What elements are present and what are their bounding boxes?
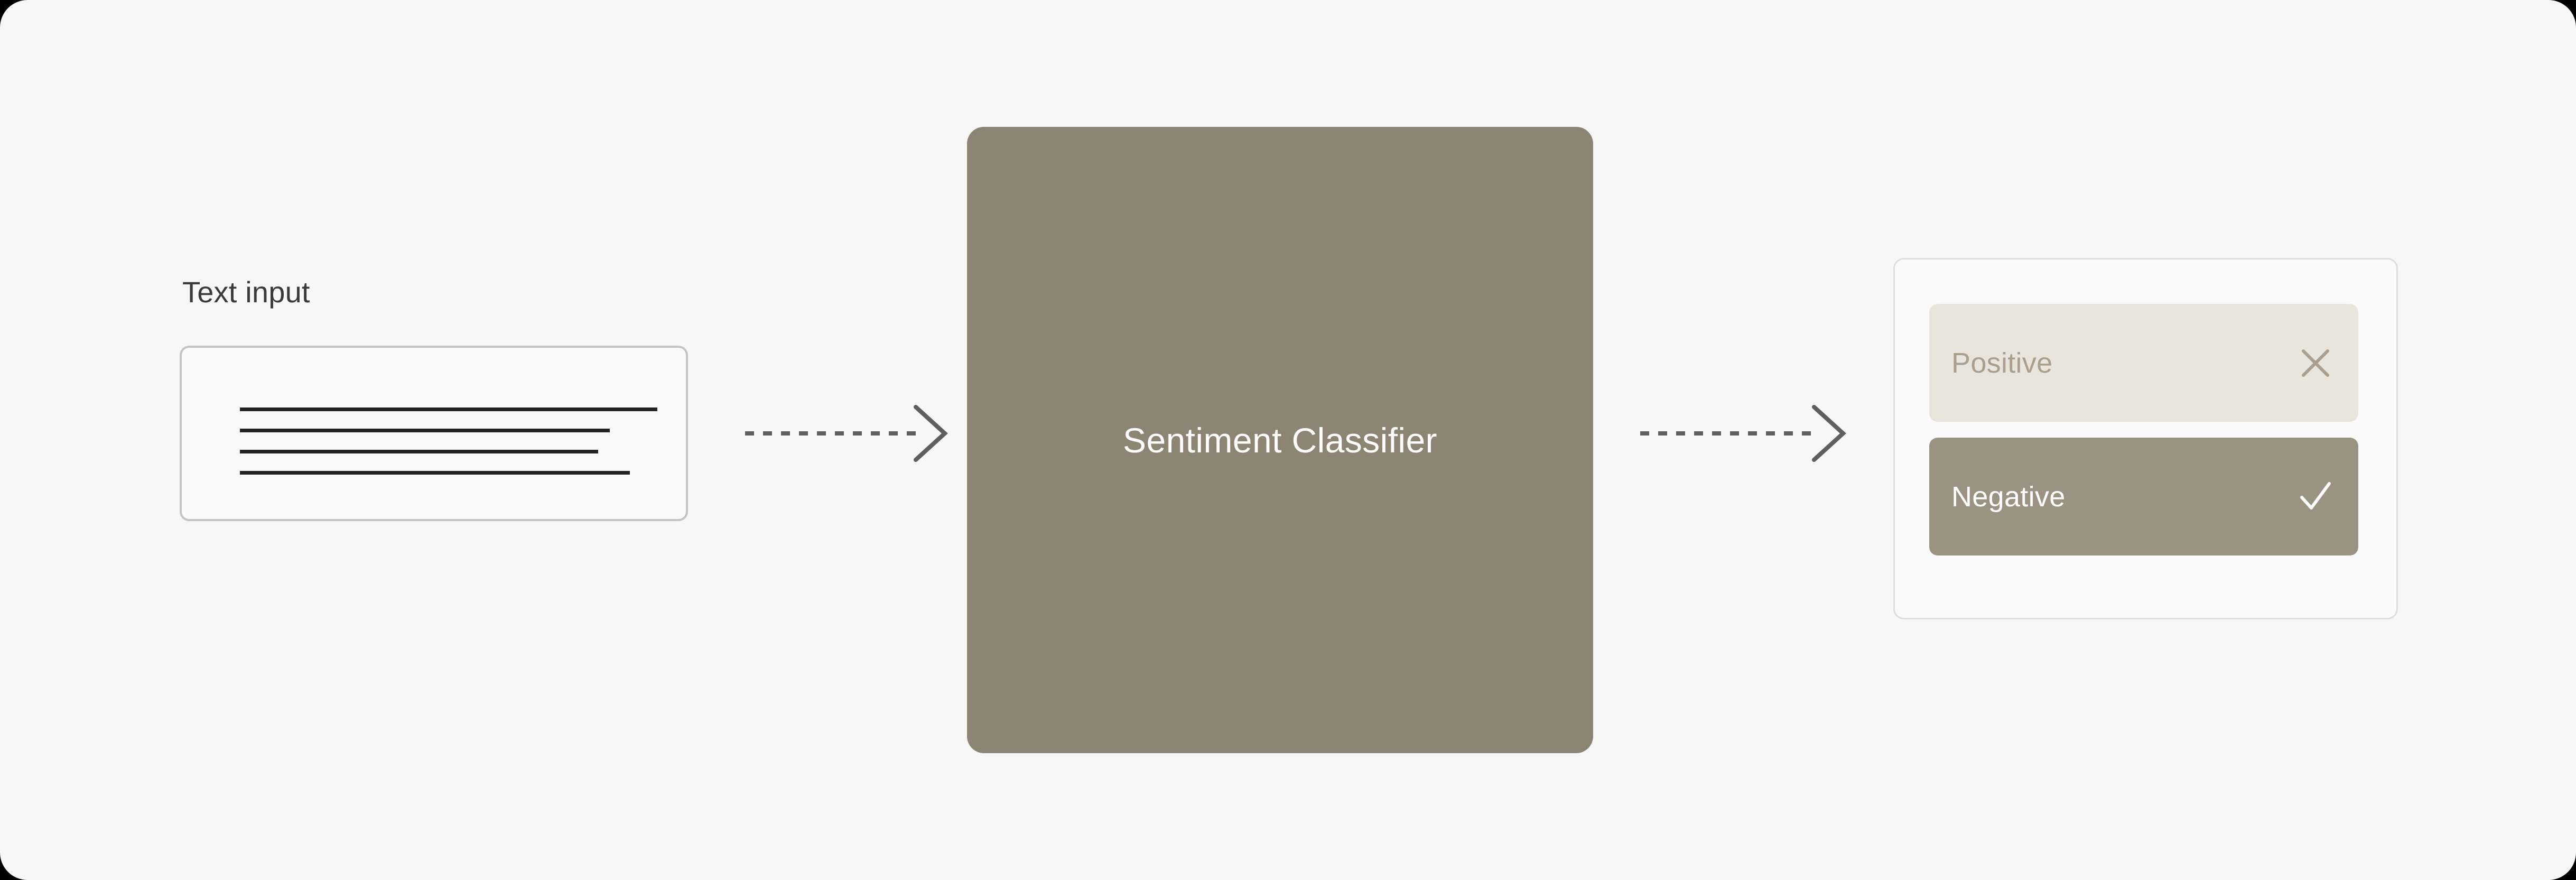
output-chip-negative[interactable]: Negative [1929,438,2358,555]
model-title: Sentiment Classifier [1123,420,1437,461]
text-line-4 [240,471,630,475]
output-chip-positive[interactable]: Positive [1929,304,2358,422]
text-line-1 [240,407,657,411]
text-input-stage: Text input [180,275,698,529]
text-input-box[interactable] [180,346,688,521]
arrow-model-to-output-icon [1639,402,1848,465]
close-icon [2296,344,2335,383]
text-line-2 [240,429,610,432]
text-input-label: Text input [182,275,310,310]
output-chip-negative-label: Negative [1951,480,2296,513]
text-input-placeholder-lines [240,407,663,475]
model-block[interactable]: Sentiment Classifier [967,127,1593,753]
diagram-canvas: Text input Sentiment Classifier Po [0,0,2576,880]
output-panel: Positive Negative [1893,258,2398,619]
check-icon [2296,477,2335,516]
arrow-input-to-model-icon [744,402,950,465]
output-chip-positive-label: Positive [1951,347,2296,379]
text-line-3 [240,450,598,453]
